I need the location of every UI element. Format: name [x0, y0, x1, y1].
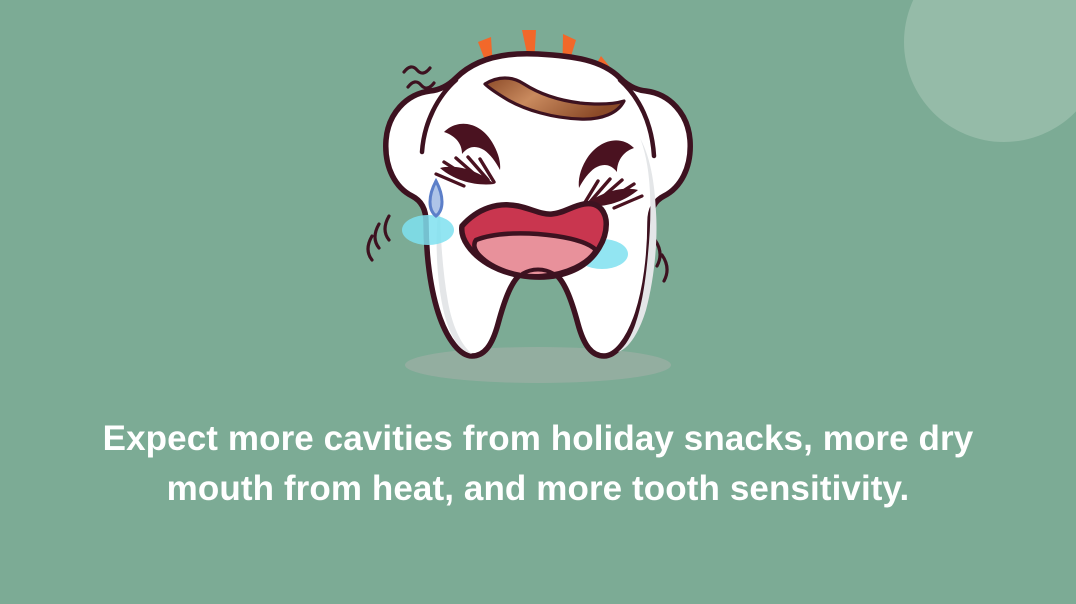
decorative-corner-circle	[904, 0, 1076, 142]
caption-line-1: Expect more cavities from holiday snacks…	[60, 414, 1016, 464]
motion-squiggles-lower-left	[368, 216, 389, 260]
caption-line-2: mouth from heat, and more tooth sensitiv…	[60, 464, 1016, 514]
caption-text: Expect more cavities from holiday snacks…	[0, 414, 1076, 514]
slide-canvas: Expect more cavities from holiday snacks…	[0, 0, 1076, 604]
ground-shadow-ellipse	[405, 347, 671, 383]
crying-tooth-illustration	[352, 18, 724, 398]
left-tear-splash	[402, 215, 454, 245]
